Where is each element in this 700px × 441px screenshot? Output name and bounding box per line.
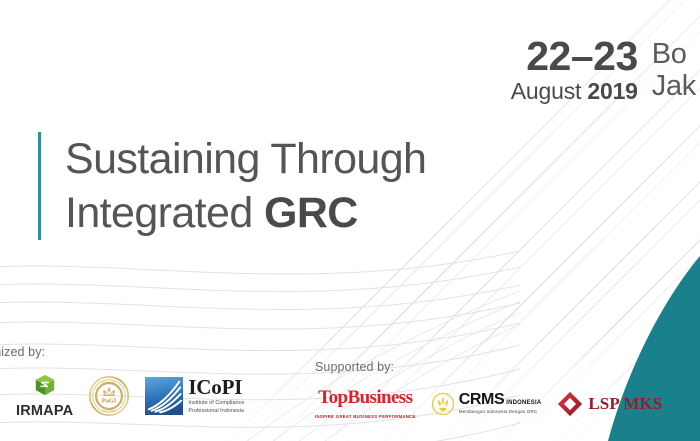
crms-country: INDONESIA bbox=[506, 400, 541, 406]
topbusiness-wordmark: TopBusiness bbox=[318, 388, 412, 407]
page-title: Sustaining Through Integrated GRC bbox=[65, 132, 426, 240]
lspmks-wordmark: LSP MKS bbox=[588, 394, 662, 414]
crms-wordmark: CRMS bbox=[459, 392, 505, 408]
crms-text: CRMS INDONESIA Membangun Indonesia Denga… bbox=[459, 392, 542, 415]
icopi-text: ICoPI Institute of Compliance Profession… bbox=[188, 377, 244, 416]
headline-line-2: Integrated GRC bbox=[65, 186, 426, 240]
lspmks-diamond-icon bbox=[557, 391, 583, 417]
sponsor-footer: Organized by: bbox=[0, 316, 700, 441]
event-venue-line-2: Jak bbox=[652, 70, 696, 102]
svg-text:PERKUMPULAN: PERKUMPULAN bbox=[103, 381, 117, 384]
irmapa-cube-icon bbox=[33, 373, 57, 402]
icopi-subtitle-line-2: Professional Indonesia bbox=[188, 408, 244, 416]
crms-title-row: CRMS INDONESIA bbox=[459, 392, 542, 408]
logo-pagi[interactable]: PaGI PERKUMPULAN GRC INDONESIA bbox=[89, 376, 129, 416]
logo-crms[interactable]: CRMS INDONESIA Membangun Indonesia Denga… bbox=[432, 392, 542, 415]
logo-icopi[interactable]: ICoPI Institute of Compliance Profession… bbox=[145, 377, 244, 416]
headline-line-2-regular: Integrated bbox=[65, 189, 264, 237]
supported-by-logo-row: TopBusiness INSPIRE GREAT BUSINESS PERFO… bbox=[315, 388, 662, 419]
event-date: 22–23 August 2019 bbox=[511, 36, 638, 103]
icopi-wave-icon bbox=[145, 377, 183, 415]
icopi-subtitle: Institute of Compliance Professional Ind… bbox=[188, 400, 244, 416]
icopi-wordmark: ICoPI bbox=[188, 377, 244, 398]
pagi-seal-icon: PaGI PERKUMPULAN GRC INDONESIA bbox=[89, 376, 129, 416]
svg-text:PaGI: PaGI bbox=[102, 397, 117, 404]
crms-flame-icon bbox=[432, 393, 454, 415]
topbusiness-tagline: INSPIRE GREAT BUSINESS PERFORMANCE bbox=[315, 414, 416, 419]
irmapa-wordmark: IRMAPA bbox=[16, 403, 73, 419]
event-date-month-year: August 2019 bbox=[511, 80, 638, 103]
organized-by-logo-row: NKG IRMAPA bbox=[0, 373, 244, 419]
accent-bar bbox=[38, 132, 41, 240]
event-year: 2019 bbox=[587, 78, 637, 104]
logo-irmapa[interactable]: IRMAPA bbox=[16, 373, 73, 419]
logo-topbusiness[interactable]: TopBusiness INSPIRE GREAT BUSINESS PERFO… bbox=[315, 388, 416, 419]
event-venue-line-1: Bo bbox=[652, 38, 696, 70]
event-month: August bbox=[511, 78, 581, 104]
event-venue: Bo Jak bbox=[652, 36, 696, 103]
supported-by-section: Supported by: TopBusiness INSPIRE GREAT … bbox=[315, 360, 662, 419]
svg-text:GRC INDONESIA: GRC INDONESIA bbox=[102, 410, 117, 413]
headline-grc: GRC bbox=[264, 189, 358, 237]
organized-by-label: Organized by: bbox=[0, 345, 244, 359]
event-date-range: 22–23 bbox=[511, 36, 638, 77]
crms-tagline: Membangun Indonesia Dengan GRC bbox=[459, 410, 542, 415]
supported-by-label: Supported by: bbox=[315, 360, 662, 374]
event-banner: 22–23 August 2019 Bo Jak Sustaining Thro… bbox=[0, 0, 700, 441]
headline-line-1: Sustaining Through bbox=[65, 132, 426, 186]
icopi-subtitle-line-1: Institute of Compliance bbox=[188, 400, 244, 408]
event-date-venue-block: 22–23 August 2019 Bo Jak bbox=[511, 36, 696, 103]
organized-by-section: Organized by: bbox=[0, 345, 244, 419]
headline-block: Sustaining Through Integrated GRC bbox=[38, 132, 426, 240]
logo-lspmks[interactable]: LSP MKS bbox=[557, 391, 662, 417]
